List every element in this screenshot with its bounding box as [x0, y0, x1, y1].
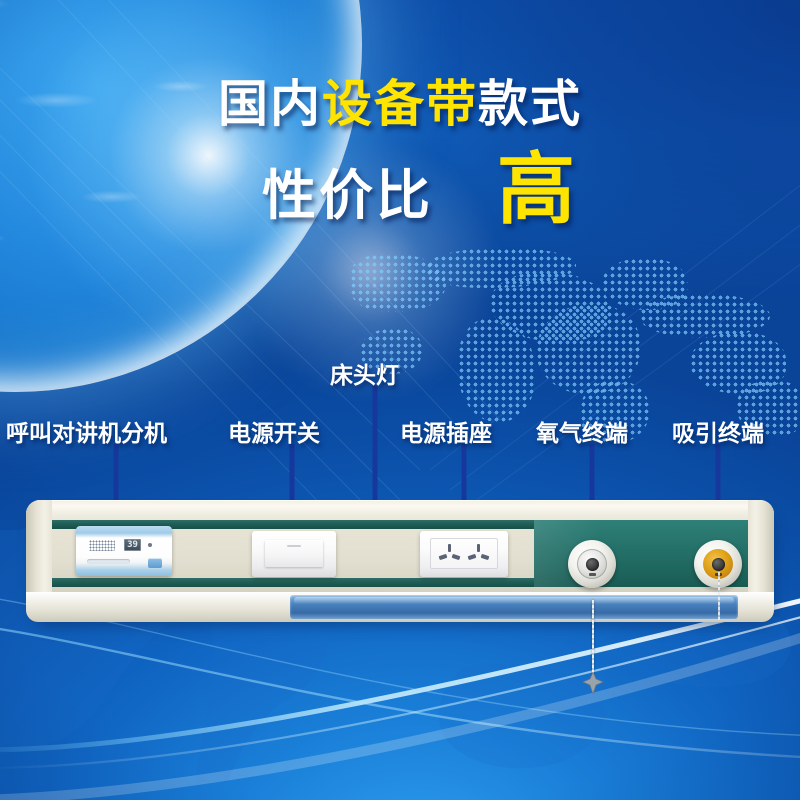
panel-blue-trim-bar [290, 595, 738, 619]
callout-label-suction: 吸引终端 [672, 414, 764, 448]
pull-cord-pendant-icon[interactable] [582, 672, 604, 694]
call-button-icon[interactable] [148, 558, 162, 568]
terminal-faceplate [577, 549, 607, 579]
outlet-right[interactable] [466, 544, 492, 564]
pull-cord-line[interactable] [592, 600, 594, 676]
power-switch-plate[interactable] [252, 531, 336, 577]
callout-label-bed-lamp: 床头灯 [330, 356, 399, 390]
terminal-port [586, 558, 599, 571]
oxygen-terminal-icon[interactable] [568, 540, 616, 588]
outlet-left[interactable] [437, 544, 463, 564]
outlet-pin-right [452, 554, 461, 560]
speaker-grille-icon [89, 540, 115, 551]
status-led-icon [148, 543, 152, 547]
terminal-marking [589, 573, 596, 576]
terminal-port [712, 558, 725, 571]
callout-label-power-socket: 电源插座 [400, 414, 492, 448]
outlet-pin-right [481, 554, 490, 560]
callout-label-intercom: 呼叫对讲机分机 [6, 414, 167, 448]
outlet-pin-top [477, 544, 480, 552]
universal-outlet-icon[interactable] [430, 538, 498, 569]
rocker-switch-icon[interactable] [265, 540, 323, 567]
intercom-display: 39 [124, 539, 141, 551]
panel-end-cap-left [26, 500, 52, 604]
panel-end-cap-right [748, 500, 774, 604]
callout-labels: 呼叫对讲机分机 电源开关 床头灯 电源插座 氧气终端 吸引终端 [0, 0, 800, 800]
callout-label-oxygen: 氧气终端 [536, 414, 628, 448]
intercom-card-slot [87, 559, 130, 564]
intercom-unit[interactable]: 39 [76, 526, 172, 576]
outlet-pin-top [448, 544, 451, 552]
outlet-pin-left [439, 554, 448, 560]
power-socket-plate[interactable] [420, 531, 508, 577]
product-banner: 国内设备带款式 性价比 高 呼 [0, 0, 800, 800]
callout-label-power-switch: 电源开关 [228, 414, 320, 448]
outlet-pin-left [468, 554, 477, 560]
pull-cord-line-secondary [718, 572, 720, 620]
